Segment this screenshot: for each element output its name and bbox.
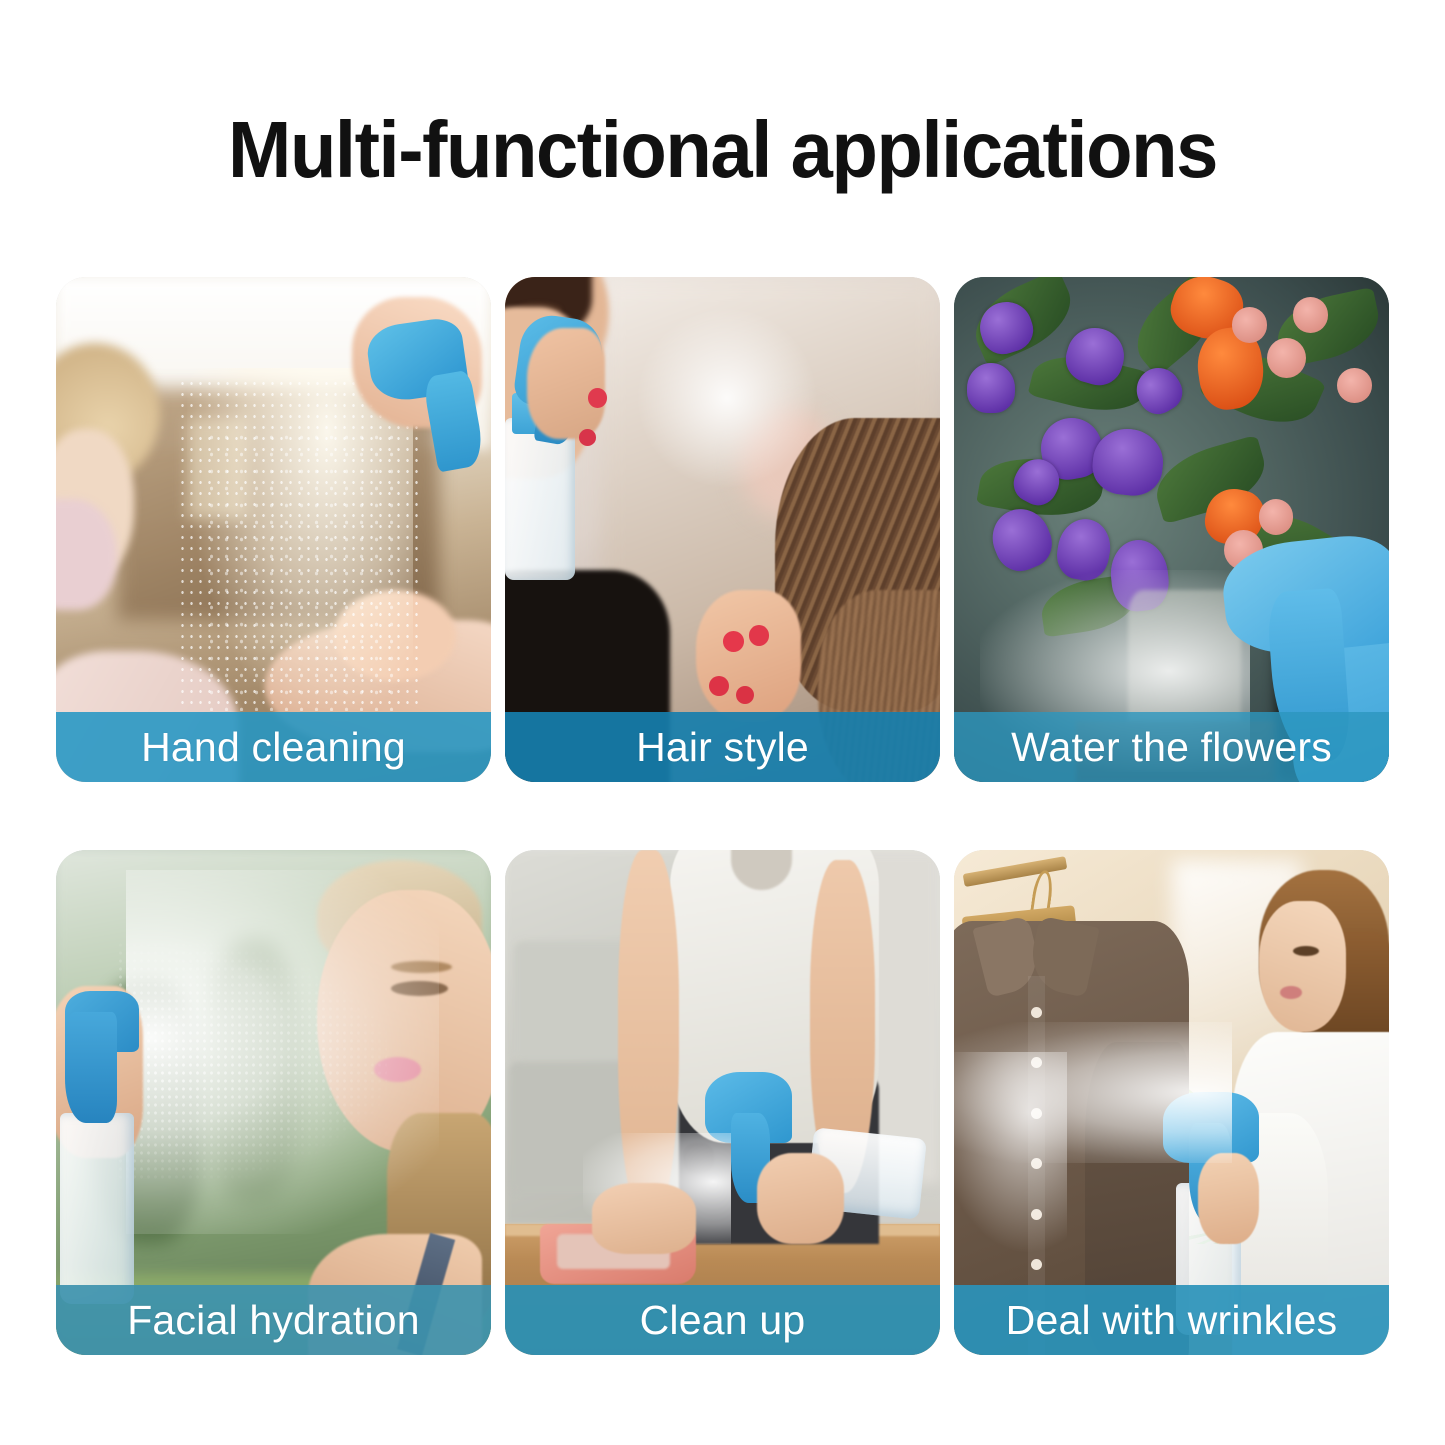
feature-card-hand-cleaning[interactable]: Hand cleaning xyxy=(56,277,491,782)
card-caption-hair-style: Hair style xyxy=(505,712,940,782)
feature-card-deal-with-wrinkles[interactable]: Deal with wrinkles xyxy=(954,850,1389,1355)
feature-card-grid: Hand cleaning Hair style xyxy=(56,277,1390,1355)
card-caption-hand-cleaning: Hand cleaning xyxy=(56,712,491,782)
product-feature-infographic: Multi-functional applications Hand clean… xyxy=(0,0,1445,1445)
card-caption-water-the-flowers: Water the flowers xyxy=(954,712,1389,782)
photo-deal-with-wrinkles xyxy=(954,850,1389,1355)
feature-card-facial-hydration[interactable]: Facial hydration xyxy=(56,850,491,1355)
photo-hand-cleaning xyxy=(56,277,491,782)
photo-clean-up xyxy=(505,850,940,1355)
feature-card-water-the-flowers[interactable]: Water the flowers xyxy=(954,277,1389,782)
card-caption-clean-up: Clean up xyxy=(505,1285,940,1355)
feature-card-clean-up[interactable]: Clean up xyxy=(505,850,940,1355)
photo-hair-style xyxy=(505,277,940,782)
feature-card-hair-style[interactable]: Hair style xyxy=(505,277,940,782)
photo-water-the-flowers xyxy=(954,277,1389,782)
card-caption-deal-with-wrinkles: Deal with wrinkles xyxy=(954,1285,1389,1355)
card-caption-facial-hydration: Facial hydration xyxy=(56,1285,491,1355)
photo-facial-hydration xyxy=(56,850,491,1355)
page-title: Multi-functional applications xyxy=(36,104,1409,196)
